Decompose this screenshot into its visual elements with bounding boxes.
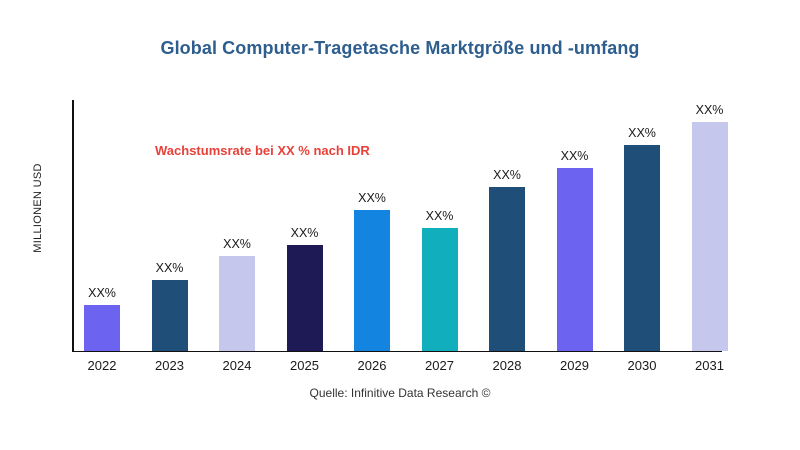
x-axis-tick-label: 2028 bbox=[469, 358, 545, 373]
x-axis-tick-label: 2022 bbox=[64, 358, 140, 373]
bar[interactable] bbox=[219, 256, 255, 351]
bar-value-label: XX% bbox=[156, 261, 184, 275]
bar-value-label: XX% bbox=[561, 149, 589, 163]
chart-container: Global Computer-Tragetasche Marktgröße u… bbox=[0, 0, 800, 450]
bar[interactable] bbox=[354, 210, 390, 351]
bar-value-label: XX% bbox=[358, 191, 386, 205]
bar-group[interactable]: XX% bbox=[422, 228, 458, 351]
x-axis-tick-label: 2029 bbox=[537, 358, 613, 373]
source-caption: Quelle: Infinitive Data Research © bbox=[0, 386, 800, 400]
plot-area: XX%2022XX%2023XX%2024XX%2025XX%2026XX%20… bbox=[0, 0, 800, 450]
bar[interactable] bbox=[287, 245, 323, 351]
bar-group[interactable]: XX% bbox=[219, 256, 255, 351]
bar-value-label: XX% bbox=[223, 237, 251, 251]
bar[interactable] bbox=[692, 122, 728, 351]
x-axis-tick-label: 2024 bbox=[199, 358, 275, 373]
bar[interactable] bbox=[422, 228, 458, 351]
x-axis-tick-label: 2026 bbox=[334, 358, 410, 373]
bar-value-label: XX% bbox=[88, 286, 116, 300]
bar-value-label: XX% bbox=[696, 103, 724, 117]
bar-value-label: XX% bbox=[628, 126, 656, 140]
bar-value-label: XX% bbox=[291, 226, 319, 240]
bar-group[interactable]: XX% bbox=[557, 168, 593, 351]
bar-group[interactable]: XX% bbox=[152, 280, 188, 351]
bar-group[interactable]: XX% bbox=[287, 245, 323, 351]
bar-group[interactable]: XX% bbox=[354, 210, 390, 351]
bar-value-label: XX% bbox=[493, 168, 521, 182]
bar-group[interactable]: XX% bbox=[84, 305, 120, 351]
x-axis-tick-label: 2025 bbox=[267, 358, 343, 373]
x-axis-tick-label: 2030 bbox=[604, 358, 680, 373]
bar[interactable] bbox=[624, 145, 660, 351]
bar[interactable] bbox=[84, 305, 120, 351]
bar-group[interactable]: XX% bbox=[489, 187, 525, 351]
bar-group[interactable]: XX% bbox=[624, 145, 660, 351]
bar[interactable] bbox=[557, 168, 593, 351]
bar-group[interactable]: XX% bbox=[692, 122, 728, 351]
x-axis-tick-label: 2027 bbox=[402, 358, 478, 373]
bar-value-label: XX% bbox=[426, 209, 454, 223]
x-axis-tick-label: 2023 bbox=[132, 358, 208, 373]
bar[interactable] bbox=[152, 280, 188, 351]
x-axis-tick-label: 2031 bbox=[672, 358, 748, 373]
bar[interactable] bbox=[489, 187, 525, 351]
